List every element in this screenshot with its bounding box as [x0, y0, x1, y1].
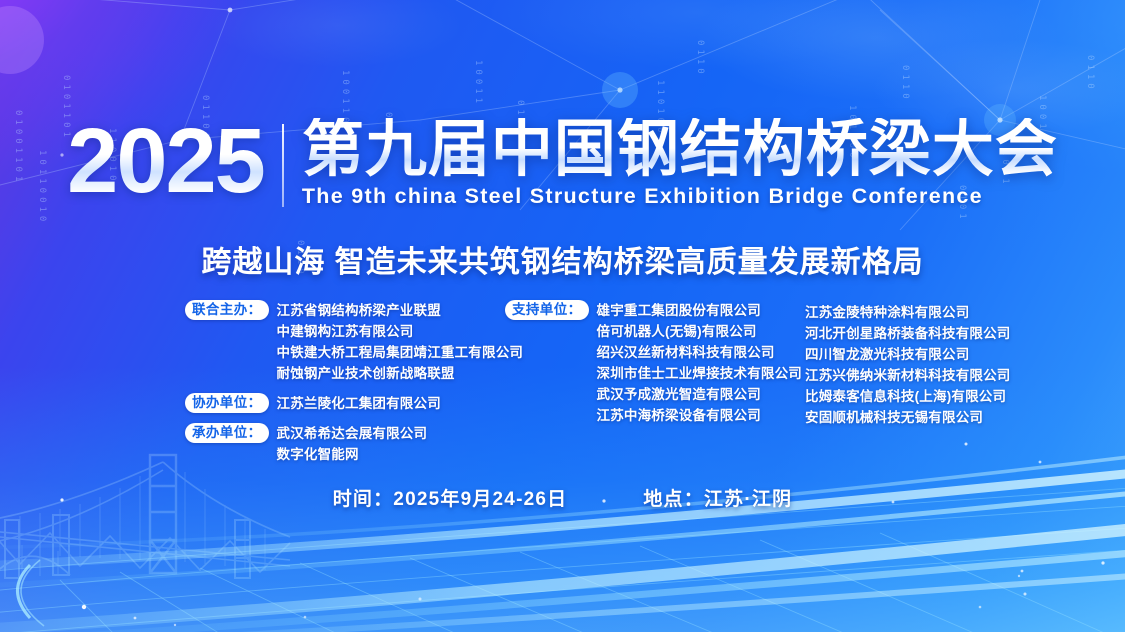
org-name: 数字化智能网 — [277, 444, 428, 465]
org-name: 四川智龙激光科技有限公司 — [805, 344, 1040, 365]
organizers-column-left: 联合主办： 江苏省钢结构桥梁产业联盟 中建钢构江苏有限公司 中铁建大桥工程局集团… — [185, 300, 505, 469]
org-name: 比姆泰客信息科技(上海)有限公司 — [805, 386, 1040, 407]
org-group-supporters: 支持单位： 雄宇重工集团股份有限公司 倍可机器人(无锡)有限公司 绍兴汉丝新材料… — [505, 300, 805, 426]
supporters-column-middle: 支持单位： 雄宇重工集团股份有限公司 倍可机器人(无锡)有限公司 绍兴汉丝新材料… — [505, 300, 805, 430]
org-name: 倍可机器人(无锡)有限公司 — [597, 321, 803, 342]
main-title-chinese: 第九届中国钢结构桥梁大会 — [302, 118, 1058, 181]
org-name: 深圳市佳士工业焊接技术有限公司 — [597, 363, 803, 384]
org-name: 中建钢构江苏有限公司 — [277, 321, 524, 342]
label-co-organizer: 协办单位： — [185, 393, 269, 413]
label-undertaker: 承办单位： — [185, 423, 269, 443]
org-name: 江苏兰陵化工集团有限公司 — [277, 393, 441, 414]
org-name: 绍兴汉丝新材料科技有限公司 — [597, 342, 803, 363]
organizations-block: 联合主办： 江苏省钢结构桥梁产业联盟 中建钢构江苏有限公司 中铁建大桥工程局集团… — [185, 300, 1040, 469]
org-name: 河北开创星路桥装备科技有限公司 — [805, 323, 1040, 344]
event-date: 时间：2025年9月24-26日 — [333, 484, 568, 511]
svg-text:0110: 0110 — [1085, 55, 1095, 93]
banner-title-block: 2025 第九届中国钢结构桥梁大会 The 9th china Steel St… — [0, 118, 1125, 209]
conference-banner: 01001101 10110010 0101101 110010 01101 1… — [0, 0, 1125, 632]
supporters-column-right: 江苏金陵特种涂料有限公司 河北开创星路桥装备科技有限公司 四川智龙激光科技有限公… — [805, 300, 1040, 428]
supporters-names-continued: 江苏金陵特种涂料有限公司 河北开创星路桥装备科技有限公司 四川智龙激光科技有限公… — [805, 302, 1040, 428]
org-group-co-organizer: 协办单位： 江苏兰陵化工集团有限公司 — [185, 393, 505, 414]
org-name: 武汉希希达会展有限公司 — [277, 423, 428, 444]
org-name: 江苏省钢结构桥梁产业联盟 — [277, 300, 524, 321]
org-name: 武汉予成激光智造有限公司 — [597, 384, 803, 405]
supporters-names: 雄宇重工集团股份有限公司 倍可机器人(无锡)有限公司 绍兴汉丝新材料科技有限公司… — [597, 300, 803, 426]
svg-text:0110: 0110 — [900, 65, 910, 103]
event-details: 时间：2025年9月24-26日 地点：江苏·江阴 — [0, 484, 1125, 511]
org-name: 耐蚀钢产业技术创新战略联盟 — [277, 363, 524, 384]
tagline-text: 跨越山海 智造未来共筑钢结构桥梁高质量发展新格局 — [0, 237, 1125, 281]
org-name: 江苏金陵特种涂料有限公司 — [805, 302, 1040, 323]
co-hosts-names: 江苏省钢结构桥梁产业联盟 中建钢构江苏有限公司 中铁建大桥工程局集团靖江重工有限… — [277, 300, 524, 384]
co-organizer-names: 江苏兰陵化工集团有限公司 — [277, 393, 441, 414]
org-group-co-hosts: 联合主办： 江苏省钢结构桥梁产业联盟 中建钢构江苏有限公司 中铁建大桥工程局集团… — [185, 300, 505, 384]
svg-text:10011: 10011 — [473, 60, 483, 107]
label-co-hosts: 联合主办： — [185, 300, 269, 320]
org-name: 中铁建大桥工程局集团靖江重工有限公司 — [277, 342, 524, 363]
undertaker-names: 武汉希希达会展有限公司 数字化智能网 — [277, 423, 428, 465]
title-text-group: 第九届中国钢结构桥梁大会 The 9th china Steel Structu… — [284, 118, 1058, 209]
org-name: 江苏兴佛纳米新材料科技有限公司 — [805, 365, 1040, 386]
svg-text:0110: 0110 — [695, 40, 705, 78]
label-supporters: 支持单位： — [505, 300, 589, 320]
org-name: 雄宇重工集团股份有限公司 — [597, 300, 803, 321]
main-title-english: The 9th china Steel Structure Exhibition… — [302, 184, 1058, 209]
org-name: 江苏中海桥梁设备有限公司 — [597, 405, 803, 426]
event-location: 地点：江苏·江阴 — [643, 484, 792, 511]
org-group-undertaker: 承办单位： 武汉希希达会展有限公司 数字化智能网 — [185, 423, 505, 465]
org-name: 安固顺机械科技无锡有限公司 — [805, 407, 1040, 428]
year-text: 2025 — [67, 118, 282, 205]
